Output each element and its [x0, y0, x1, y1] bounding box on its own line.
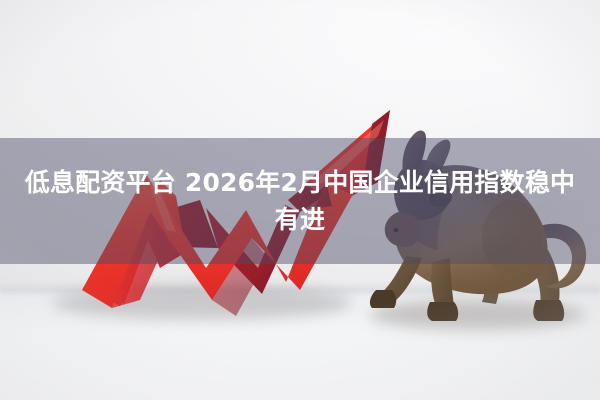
image-vignette [0, 0, 600, 400]
news-banner-image: 低息配资平台 2026年2月中国企业信用指数稳中 有进 [0, 0, 600, 400]
